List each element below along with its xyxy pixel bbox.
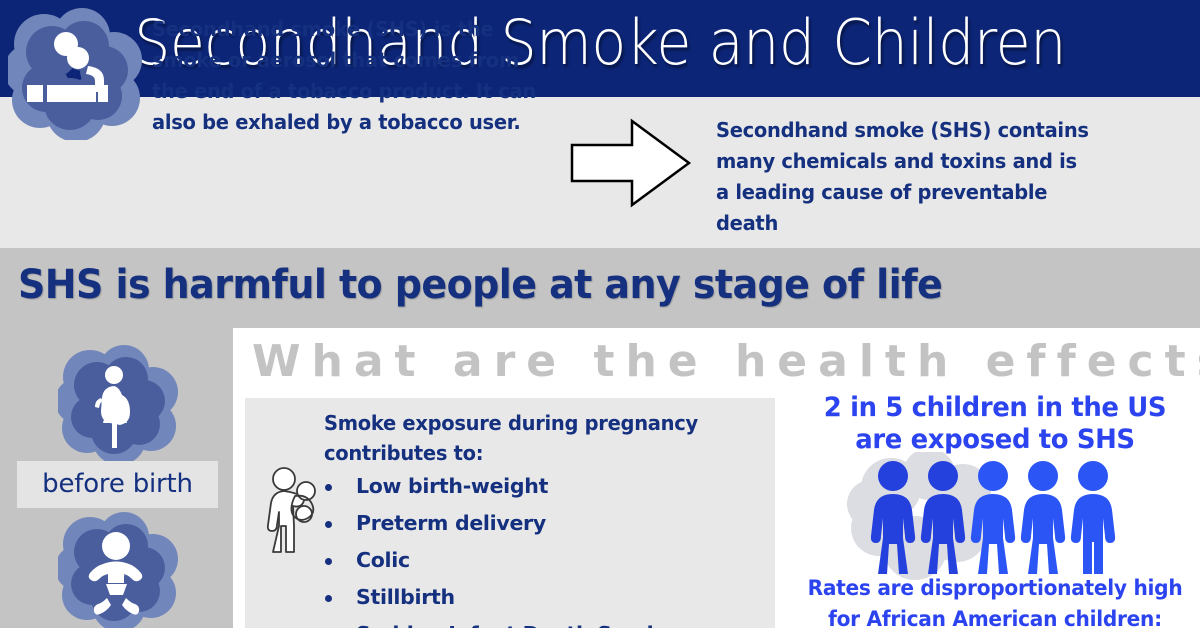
mother-and-child-icon <box>261 462 329 570</box>
definition-left-text: Secondhand smoke (SHS) is the smoke or a… <box>152 14 542 138</box>
pregnancy-effects-list: Low birth-weight Preterm delivery Colic … <box>320 468 780 628</box>
stage-label-before-birth: before birth <box>17 461 218 508</box>
five-children-group-icon <box>845 452 1145 584</box>
cigarette-smoke-cloud-icon <box>8 8 144 140</box>
list-item: Sudden Infant Death Syndrome <box>320 616 780 628</box>
list-item: Low birth-weight <box>320 468 780 505</box>
baby-cloud-icon <box>58 512 180 628</box>
right-arrow-icon <box>570 118 692 208</box>
section-headline: SHS is harmful to people at any stage of… <box>18 262 942 308</box>
list-item: Colic <box>320 542 780 579</box>
exposure-stat-footnote: Rates are disproportionately high for Af… <box>803 573 1187 628</box>
exposure-stat-headline: 2 in 5 children in the US are exposed to… <box>803 392 1187 456</box>
health-effects-title: What are the health effects? <box>252 336 1200 387</box>
list-item: Stillbirth <box>320 579 780 616</box>
pregnant-woman-cloud-icon <box>58 345 180 463</box>
list-item: Preterm delivery <box>320 505 780 542</box>
definition-right-text: Secondhand smoke (SHS) contains many che… <box>716 115 1096 239</box>
pregnancy-effects-heading: Smoke exposure during pregnancy contribu… <box>324 408 704 468</box>
smoke-cloud-icon <box>847 452 991 580</box>
infographic-page: Secondhand Smoke and Children <box>0 0 1200 628</box>
